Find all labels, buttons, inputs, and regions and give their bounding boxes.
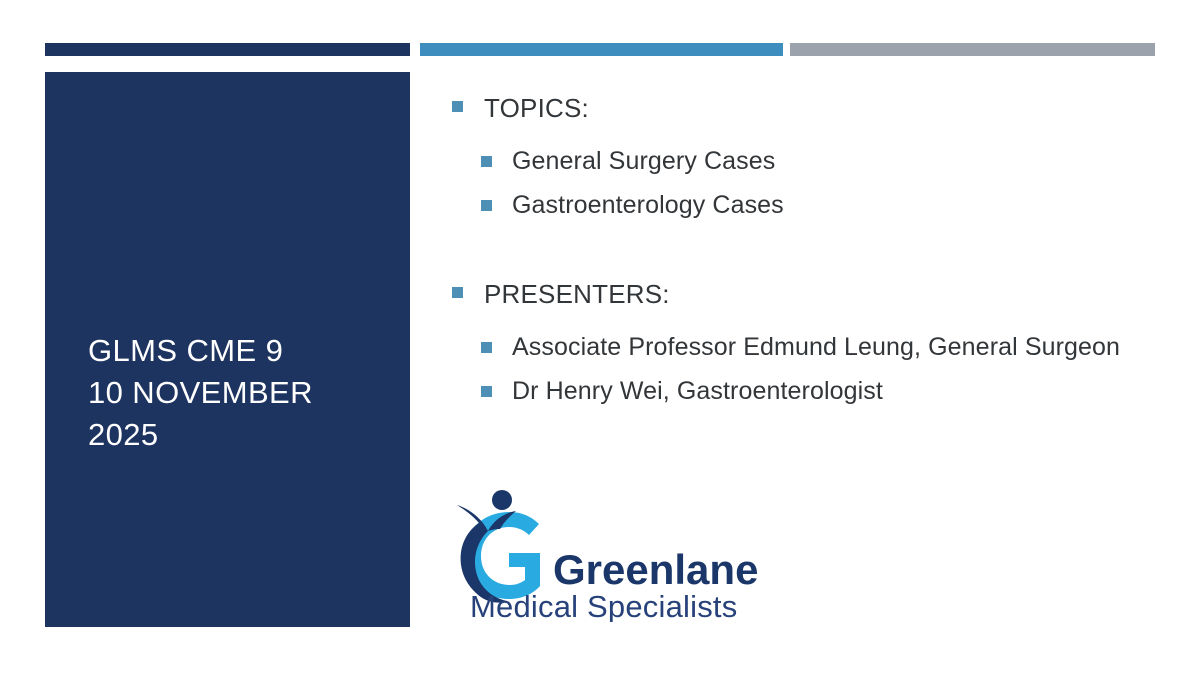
square-bullet-icon bbox=[452, 101, 463, 112]
bullet-label: General Surgery Cases bbox=[512, 144, 775, 178]
bullet-topic-item-1: General Surgery Cases bbox=[481, 144, 1152, 178]
square-bullet-icon bbox=[481, 156, 492, 167]
bullet-topics-heading: TOPICS: bbox=[452, 90, 1152, 126]
bullet-label: Associate Professor Edmund Leung, Genera… bbox=[512, 330, 1120, 364]
title-panel: GLMS CME 9 10 NOVEMBER 2025 bbox=[45, 72, 410, 627]
bullet-presenter-item-1: Associate Professor Edmund Leung, Genera… bbox=[481, 330, 1152, 364]
bullet-label: Gastroenterology Cases bbox=[512, 188, 784, 222]
square-bullet-icon bbox=[481, 200, 492, 211]
bullet-presenter-item-2: Dr Henry Wei, Gastroenterologist bbox=[481, 374, 1152, 408]
greenlane-logo: Greenlane Medical Specialists bbox=[452, 487, 772, 622]
decor-bar-gray bbox=[790, 43, 1155, 56]
square-bullet-icon bbox=[481, 342, 492, 353]
square-bullet-icon bbox=[481, 386, 492, 397]
slide-canvas: GLMS CME 9 10 NOVEMBER 2025 TOPICS: Gene… bbox=[0, 0, 1200, 675]
bullet-label: Dr Henry Wei, Gastroenterologist bbox=[512, 374, 883, 408]
decor-bar-navy bbox=[45, 43, 410, 56]
bullet-label: PRESENTERS: bbox=[484, 276, 670, 312]
bullet-label: TOPICS: bbox=[484, 90, 589, 126]
square-bullet-icon bbox=[452, 287, 463, 298]
section-spacer bbox=[452, 222, 1152, 276]
spacer bbox=[452, 312, 1152, 320]
spacer bbox=[452, 126, 1152, 134]
logo-person-head-icon bbox=[492, 490, 512, 510]
bullet-topic-item-2: Gastroenterology Cases bbox=[481, 188, 1152, 222]
logo-brand-name: Greenlane bbox=[553, 546, 758, 593]
bullet-presenters-heading: PRESENTERS: bbox=[452, 276, 1152, 312]
page-title: GLMS CME 9 10 NOVEMBER 2025 bbox=[88, 330, 388, 456]
logo-tagline: Medical Specialists bbox=[470, 589, 737, 622]
decor-bar-blue bbox=[420, 43, 783, 56]
content-body: TOPICS: General Surgery Cases Gastroente… bbox=[452, 90, 1152, 408]
